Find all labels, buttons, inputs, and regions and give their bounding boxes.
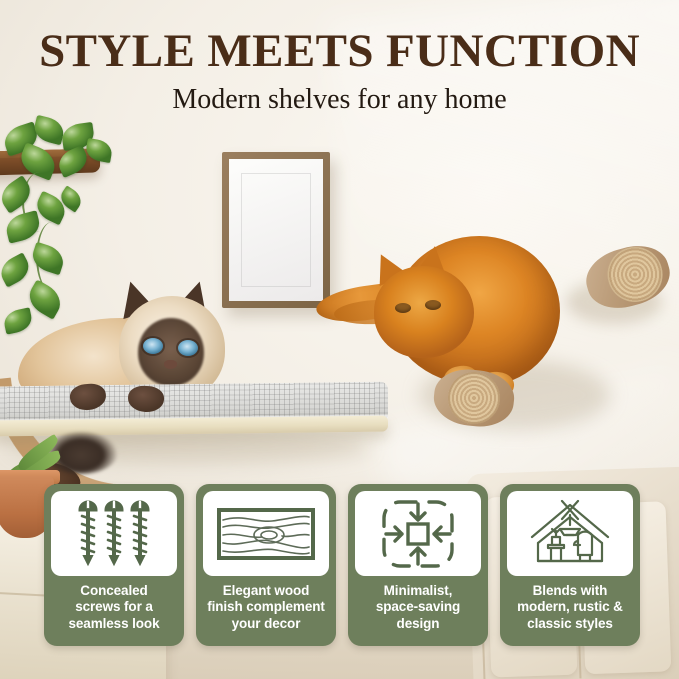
wall-cat-shelf — [0, 384, 388, 440]
framed-picture — [222, 152, 330, 308]
feature-card-label: Minimalist, space-saving design — [376, 583, 460, 632]
siamese-cat-eye-right — [178, 340, 198, 356]
shelf-wood-board — [0, 416, 388, 437]
feature-card-row: Concealed screws for a seamless look — [44, 484, 640, 646]
feature-card-styles[interactable]: Blends with modern, rustic & classic sty… — [500, 484, 640, 646]
wood-grain-icon — [203, 491, 329, 576]
house-interior-icon — [507, 491, 633, 576]
feature-card-label: Blends with modern, rustic & classic sty… — [517, 583, 623, 632]
product-infographic: STYLE MEETS FUNCTION Modern shelves for … — [0, 0, 679, 679]
orange-cat-eye-right — [425, 300, 441, 310]
siamese-cat-nose — [164, 360, 177, 369]
page-subtitle: Modern shelves for any home — [0, 86, 679, 114]
page-title: STYLE MEETS FUNCTION — [0, 28, 679, 75]
screws-icon — [51, 491, 177, 576]
sisal-step-lower — [431, 366, 516, 430]
feature-card-label: Elegant wood finish complement your deco… — [207, 583, 325, 632]
feature-card-concealed-screws[interactable]: Concealed screws for a seamless look — [44, 484, 184, 646]
orange-cat-eye-left — [395, 303, 411, 313]
siamese-cat-eye-left — [143, 338, 163, 354]
feature-card-label: Concealed screws for a seamless look — [68, 583, 159, 632]
picture-inner-border — [241, 173, 311, 287]
feature-card-space-saving[interactable]: Minimalist, space-saving design — [348, 484, 488, 646]
orange-cat-head — [374, 266, 474, 358]
space-saving-arrows-icon — [355, 491, 481, 576]
feature-card-wood-finish[interactable]: Elegant wood finish complement your deco… — [196, 484, 336, 646]
